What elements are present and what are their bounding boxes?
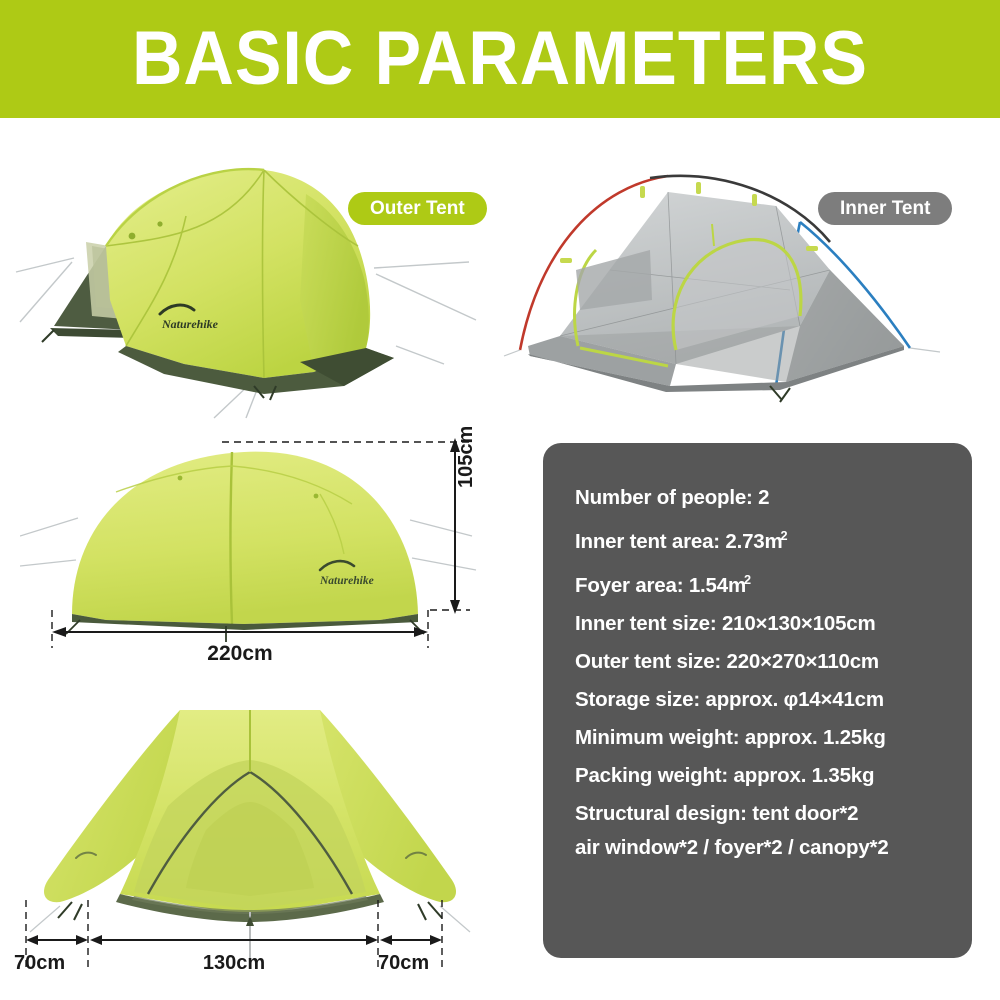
fitting bbox=[314, 494, 319, 499]
outer-tent-image: Naturehike bbox=[14, 150, 484, 420]
inner-tent-badge: Inner Tent bbox=[818, 192, 952, 225]
fitting bbox=[178, 476, 183, 481]
width-dimension-label: 220cm bbox=[0, 642, 480, 666]
spec-packing-weight: Packing weight: approx. 1.35kg bbox=[575, 757, 972, 795]
superscript-two: 2 bbox=[744, 572, 751, 587]
spec-inner-tent-area-unit: m bbox=[765, 530, 783, 553]
specifications-panel: Number of people: 2 Inner tent area: 2.7… bbox=[543, 443, 972, 958]
inner-width-label: 130cm bbox=[90, 952, 378, 975]
fitting bbox=[157, 221, 162, 226]
spec-structural-design-cont: air window*2 / foyer*2 / canopy*2 bbox=[575, 829, 972, 867]
spec-inner-tent-size: Inner tent size: 210×130×105cm bbox=[575, 605, 972, 643]
spec-foyer-area: Foyer area: 1.54m2 bbox=[575, 561, 972, 605]
svg-text:Naturehike: Naturehike bbox=[161, 317, 219, 331]
front-view-image bbox=[20, 680, 480, 980]
spec-outer-tent-size: Outer tent size: 220×270×110cm bbox=[575, 643, 972, 681]
inner-tent-badge-label: Inner Tent bbox=[840, 198, 930, 220]
spec-inner-tent-area: Inner tent area: 2.73m2 bbox=[575, 517, 972, 561]
outer-tent-badge: Outer Tent bbox=[348, 192, 487, 225]
left-vestibule-label: 70cm bbox=[14, 952, 65, 975]
tent-fly bbox=[72, 452, 418, 624]
inner-tent-image bbox=[500, 150, 980, 410]
fitting bbox=[129, 233, 136, 240]
spec-foyer-area-text: Foyer area: 1.54 bbox=[575, 574, 728, 597]
svg-text:Naturehike: Naturehike bbox=[319, 575, 374, 587]
height-dimension-label: 105cm bbox=[455, 426, 478, 488]
superscript-two: 2 bbox=[781, 528, 788, 543]
header-banner: BASIC PARAMETERS bbox=[0, 0, 1000, 118]
spec-inner-tent-area-text: Inner tent area: 2.73 bbox=[575, 530, 765, 553]
spec-number-of-people: Number of people: 2 bbox=[575, 479, 972, 517]
spec-minimum-weight: Minimum weight: approx. 1.25kg bbox=[575, 719, 972, 757]
spec-storage-size: Storage size: approx. φ14×41cm bbox=[575, 681, 972, 719]
spec-structural-design: Structural design: tent door*2 bbox=[575, 795, 972, 833]
page-title: BASIC PARAMETERS bbox=[132, 21, 868, 97]
right-vestibule-label: 70cm bbox=[378, 952, 429, 975]
outer-tent-badge-label: Outer Tent bbox=[370, 198, 465, 220]
